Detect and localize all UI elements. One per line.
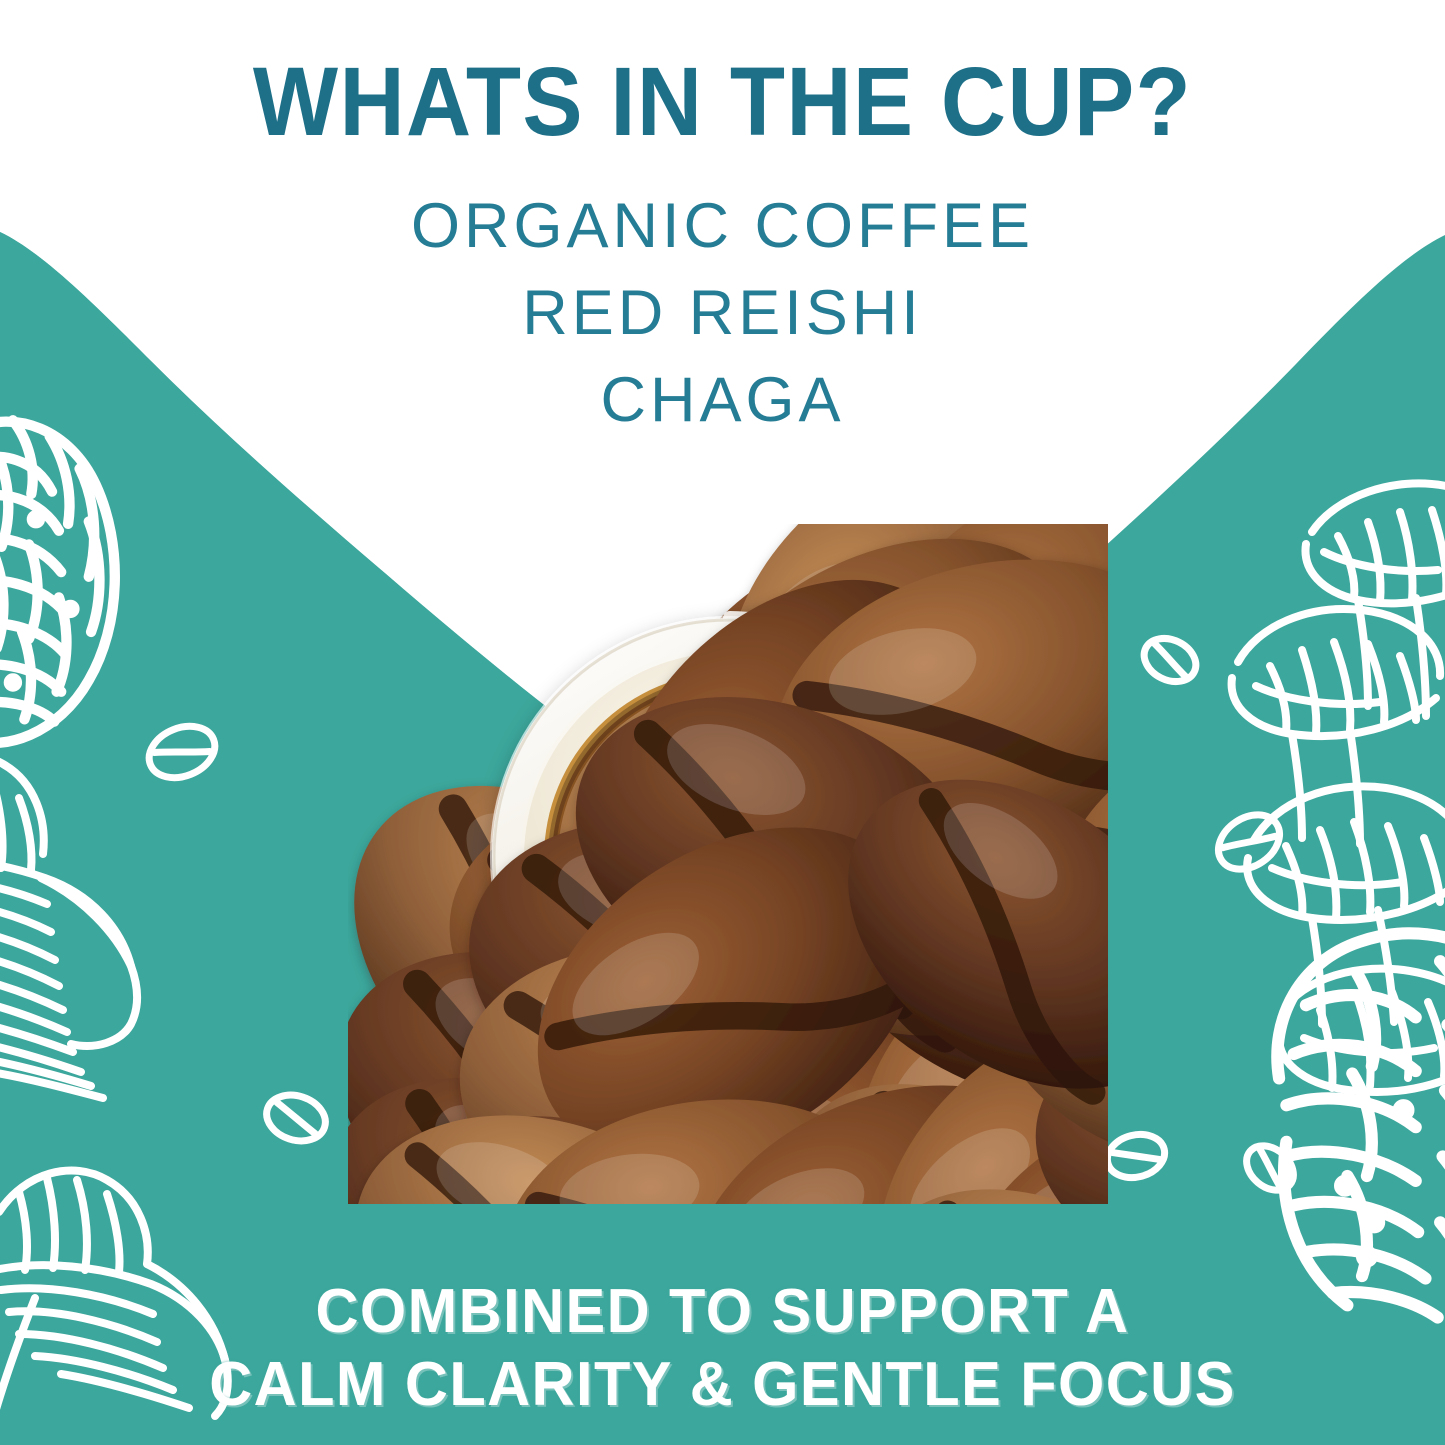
coffee-cup-photo	[348, 524, 1108, 1204]
coffee-cup-illustration	[348, 524, 1108, 1204]
poster-canvas: WHATS IN THE CUP? ORGANIC COFFEE RED REI…	[0, 0, 1445, 1445]
